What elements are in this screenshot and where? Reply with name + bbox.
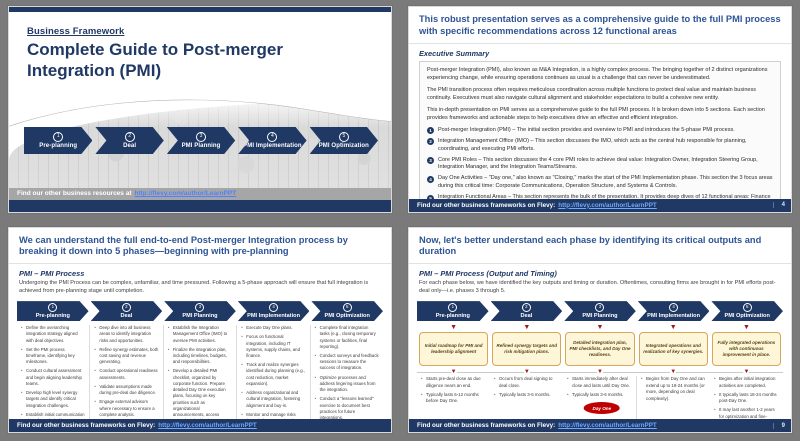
phase-chevron[interactable]: 5 PMI Optimization (310, 127, 378, 154)
bullet-list: Deep dive into all business areas to ide… (94, 325, 158, 418)
phase-column: Deep dive into all business areas to ide… (90, 325, 163, 433)
phase-number: 4 (269, 303, 278, 312)
list-item: Execute Day One plans. (241, 325, 305, 331)
list-item: Address organizational and cultural inte… (241, 390, 305, 409)
phase-number: 4 (267, 132, 277, 142)
executive-summary-box: Post-merger Integration (PMI), also know… (419, 61, 781, 213)
phase-chevron[interactable]: 3 PMI Planning (164, 301, 236, 321)
footer-text: Find our other business frameworks on Fl… (17, 422, 155, 429)
list-item: Typically lasts 6-12 months before Day O… (421, 392, 486, 405)
phase-number: 3 (196, 132, 206, 142)
timing-arrow-cell: ▼ (563, 369, 636, 375)
list-item: Track and realize synergies identified d… (241, 362, 305, 387)
page-title: Now, let's better understand each phase … (409, 228, 791, 265)
footer-link[interactable]: http://flevy.com/author/LearnPPT (558, 422, 657, 429)
phase-label: Deal (123, 143, 136, 149)
phase-column: Complete final integration tasks (e.g., … (311, 325, 383, 433)
phase-number: 1 (53, 132, 63, 142)
list-item: Finalize the integration plan, including… (168, 347, 232, 366)
phase-column: Execute Day One plans. Focus on function… (237, 325, 310, 433)
output-card: Refined synergy targets and risk mitigat… (492, 332, 561, 366)
list-item: Conduct operational readiness assessment… (94, 368, 158, 380)
list-number-badge: 2 (427, 138, 434, 145)
phase-label: PMI Implementation (647, 313, 700, 319)
slide-executive-summary: This robust presentation serves as a com… (408, 6, 792, 213)
list-item: 2 Integration Management Office (IMO) – … (427, 138, 773, 154)
phase-number: 2 (122, 303, 131, 312)
phase-label: Deal (120, 313, 132, 319)
phase-chevron[interactable]: 1 Pre-planning (24, 127, 92, 154)
slide-cover: Business Framework Complete Guide to Pos… (8, 6, 392, 213)
phase-label: Pre-planning (436, 313, 470, 319)
cover-title: Complete Guide to Post-merger Integratio… (27, 40, 302, 81)
footer-text: Find our other business frameworks on Fl… (417, 202, 555, 209)
output-card: Fully integrated operations with continu… (712, 332, 781, 366)
phase-number: 1 (448, 303, 457, 312)
phase-number: 1 (48, 303, 57, 312)
arrow-down-icon: ▼ (490, 324, 563, 331)
output-card: Detailed integration plan, PMI checklist… (565, 332, 634, 366)
arrow-down-icon: ▼ (417, 324, 490, 331)
day-one-badge: Day One (584, 402, 621, 414)
bullet-list: Starts pre-deal close as due diligence n… (421, 376, 486, 405)
phase-chevron[interactable]: 3 PMI Planning (167, 127, 235, 154)
phase-number: 5 (339, 132, 349, 142)
wave-divider-icon (9, 92, 391, 132)
cover-bottom-bar (9, 200, 391, 212)
phase-number: 3 (195, 303, 204, 312)
phase-number: 5 (743, 303, 752, 312)
slide-cell-1: Business Framework Complete Guide to Pos… (0, 0, 400, 221)
phase-label: PMI Optimization (319, 143, 369, 149)
bullet-list: Complete final integration tasks (e.g., … (315, 325, 379, 433)
phase-label: PMI Implementation (243, 143, 301, 149)
phase-column: Establish the Integration Management Off… (164, 325, 237, 433)
section-subtitle: Executive Summary (409, 44, 791, 58)
list-item: Establish the Integration Management Off… (168, 325, 232, 344)
slide-footer: Find our other business frameworks on Fl… (409, 199, 791, 212)
list-number-badge: 4 (427, 176, 434, 183)
list-item: Focus on functional integration, includi… (241, 334, 305, 359)
slide-pmi-process: We can understand the full end-to-end Po… (8, 227, 392, 434)
timing-arrow-cell: ▼ (417, 369, 490, 375)
list-item: 1 Post-merger Integration (PMI) – The in… (427, 127, 773, 135)
phase-label: PMI Planning (182, 313, 217, 319)
footer-link[interactable]: http://flevy.com/author/LearnPPT (558, 202, 657, 209)
slide-footer: Find our other business frameworks on Fl… (409, 419, 791, 432)
cover-footer: Find our other business resources at htt… (9, 188, 391, 200)
bullet-list: Define the overarching integration strat… (21, 325, 85, 424)
list-item: Refine synergy estimates, both cost savi… (94, 347, 158, 366)
list-item: Begins after initial integration activit… (714, 376, 779, 389)
list-item: Starts pre-deal close as due diligence n… (421, 376, 486, 389)
phase-chevron[interactable]: 1 Pre-planning (417, 301, 489, 321)
phase-chevron[interactable]: 4 PMI Implementation (238, 301, 310, 321)
phase-number: 5 (343, 303, 352, 312)
arrow-down-icon: ▼ (710, 324, 783, 331)
footer-text: Find our other business frameworks on Fl… (417, 422, 555, 429)
page-number: 4 (773, 202, 785, 208)
list-item: Define the overarching integration strat… (21, 325, 85, 344)
section-subtitle: PMI – PMI Process (Output and Timing) (409, 264, 791, 278)
list-item-text: Post-merger Integration (PMI) – The init… (438, 127, 735, 135)
phase-label: Deal (520, 313, 532, 319)
list-item-text: Integration Management Office (IMO) – Th… (438, 138, 773, 154)
list-item: Typically lasts 3-6 months. (494, 392, 559, 399)
list-item-text: Core PMI Roles – This section discusses … (438, 157, 773, 173)
arrow-down-icon: ▼ (563, 324, 636, 331)
list-item: Conduct cultural assessment and begin al… (21, 368, 85, 387)
timing-arrow-row: ▼ ▼ ▼ ▼ ▼ (417, 369, 783, 375)
phase-chevron[interactable]: 2 Deal (95, 127, 163, 154)
list-item: Conduct a "lessons learned" exercise to … (315, 396, 379, 421)
phase-label: PMI Planning (582, 313, 617, 319)
list-item: Typically lasts 3-6 months. (567, 392, 632, 399)
phase-number: 2 (125, 132, 135, 142)
list-item: Occurs from deal signing to deal close. (494, 376, 559, 389)
cover-footer-text: Find our other business resources at (17, 190, 132, 197)
page-title: We can understand the full end-to-end Po… (9, 228, 391, 265)
bullet-list: Establish the Integration Management Off… (168, 325, 232, 433)
cover-phase-chevrons: 1 Pre-planning 2 Deal 3 PMI Planning 4 P… (24, 127, 381, 154)
phase-output-row: Initial roadmap for PMI and leadership a… (417, 332, 783, 366)
slide-cell-2: This robust presentation serves as a com… (400, 0, 800, 221)
phase-chevron[interactable]: 5 PMI Optimization (711, 301, 783, 321)
list-number-badge: 1 (427, 127, 434, 134)
phase-label: PMI Planning (182, 143, 221, 149)
bullet-list: Begins from Day One and can extend up to… (641, 376, 706, 402)
list-item: 3 Core PMI Roles – This section discusse… (427, 157, 773, 173)
output-card: Integrated operations and realization of… (639, 332, 708, 366)
list-item: Engage external advisors where necessary… (94, 399, 158, 418)
list-item: Set the PMI process timeframe, identifyi… (21, 347, 85, 366)
phase-label: PMI Optimization (324, 313, 369, 319)
list-item: 4 Day One Activities – "Day one," also k… (427, 175, 773, 191)
phase-number: 3 (595, 303, 604, 312)
list-item: Conduct surveys and feedback sessions to… (315, 353, 379, 372)
phase-chevron[interactable]: 2 Deal (91, 301, 163, 321)
phase-chevron[interactable]: 5 PMI Optimization (311, 301, 383, 321)
phase-detail-columns: Define the overarching integration strat… (17, 325, 383, 433)
cover-body: Business Framework Complete Guide to Pos… (9, 12, 391, 212)
cover-eyebrow: Business Framework (27, 26, 391, 37)
list-item: Develop high level synergy targets and i… (21, 390, 85, 409)
phase-chevron[interactable]: 1 Pre-planning (17, 301, 89, 321)
list-item: Deep dive into all business areas to ide… (94, 325, 158, 344)
bullet-list: Occurs from deal signing to deal close. … (494, 376, 559, 398)
down-arrow-row: ▼ ▼ ▼ ▼ ▼ (417, 324, 783, 331)
phase-number: 2 (522, 303, 531, 312)
phase-label: Pre-planning (39, 143, 77, 149)
list-item: Complete final integration tasks (e.g., … (315, 325, 379, 350)
arrow-down-icon: ▼ (637, 324, 710, 331)
slide-cell-3: We can understand the full end-to-end Po… (0, 221, 400, 441)
phase-label: Pre-planning (36, 313, 70, 319)
phase-chevron[interactable]: 4 PMI Implementation (238, 127, 306, 154)
phase-label: PMI Optimization (724, 313, 769, 319)
phase-chevron[interactable]: 2 Deal (491, 301, 563, 321)
cover-text-block: Business Framework Complete Guide to Pos… (9, 12, 391, 81)
bullet-list: Execute Day One plans. Focus on function… (241, 325, 305, 433)
list-item: Starts immediately after deal close and … (567, 376, 632, 389)
slide-cell-4: Now, let's better understand each phase … (400, 221, 800, 441)
phase-column: Define the overarching integration strat… (17, 325, 90, 433)
slide-output-timing: Now, let's better understand each phase … (408, 227, 792, 434)
phase-chevron-row: 1 Pre-planning 2 Deal 3 PMI Planning 4 P… (417, 301, 783, 321)
page-title: This robust presentation serves as a com… (409, 7, 791, 44)
phase-chevron[interactable]: 3 PMI Planning (564, 301, 636, 321)
section-lead-text: For each phase below, we have identified… (409, 278, 791, 296)
summary-paragraph: This in-depth presentation on PMI serves… (427, 107, 773, 123)
slide-footer: Find our other business frameworks on Fl… (9, 419, 391, 432)
list-item: Validate assumptions made during pre-dea… (94, 384, 158, 396)
section-subtitle: PMI – PMI Process (9, 264, 391, 278)
bullet-list: Starts immediately after deal close and … (567, 376, 632, 398)
summary-paragraph: The PMI transition process often require… (427, 87, 773, 103)
timing-arrow-cell: ▼ (710, 369, 783, 375)
page-number: 9 (773, 423, 785, 429)
phase-number: 4 (669, 303, 678, 312)
section-lead-text: Undergoing the PMI Process can be comple… (9, 278, 391, 296)
summary-paragraph: Post-merger Integration (PMI), also know… (427, 67, 773, 83)
list-item: Begins from Day One and can extend up to… (641, 376, 706, 402)
timing-arrow-cell: ▼ (637, 369, 710, 375)
list-item: Optimize processes and address lingering… (315, 375, 379, 394)
footer-link[interactable]: http://flevy.com/author/LearnPPT (158, 422, 257, 429)
phase-chevron-row: 1 Pre-planning 2 Deal 3 PMI Planning 4 P… (17, 301, 383, 321)
list-item: It typically lasts 18-24 months post-Day… (714, 392, 779, 405)
output-card: Initial roadmap for PMI and leadership a… (419, 332, 488, 366)
cover-footer-link[interactable]: http://flevy.com/author/LearnPPT (135, 190, 237, 197)
list-number-badge: 3 (427, 157, 434, 164)
phase-label: PMI Implementation (247, 313, 300, 319)
timing-arrow-cell: ▼ (490, 369, 563, 375)
list-item-text: Day One Activities – "Day one," also kno… (438, 175, 773, 191)
phase-chevron[interactable]: 4 PMI Implementation (638, 301, 710, 321)
slide-grid: Business Framework Complete Guide to Pos… (0, 0, 800, 441)
